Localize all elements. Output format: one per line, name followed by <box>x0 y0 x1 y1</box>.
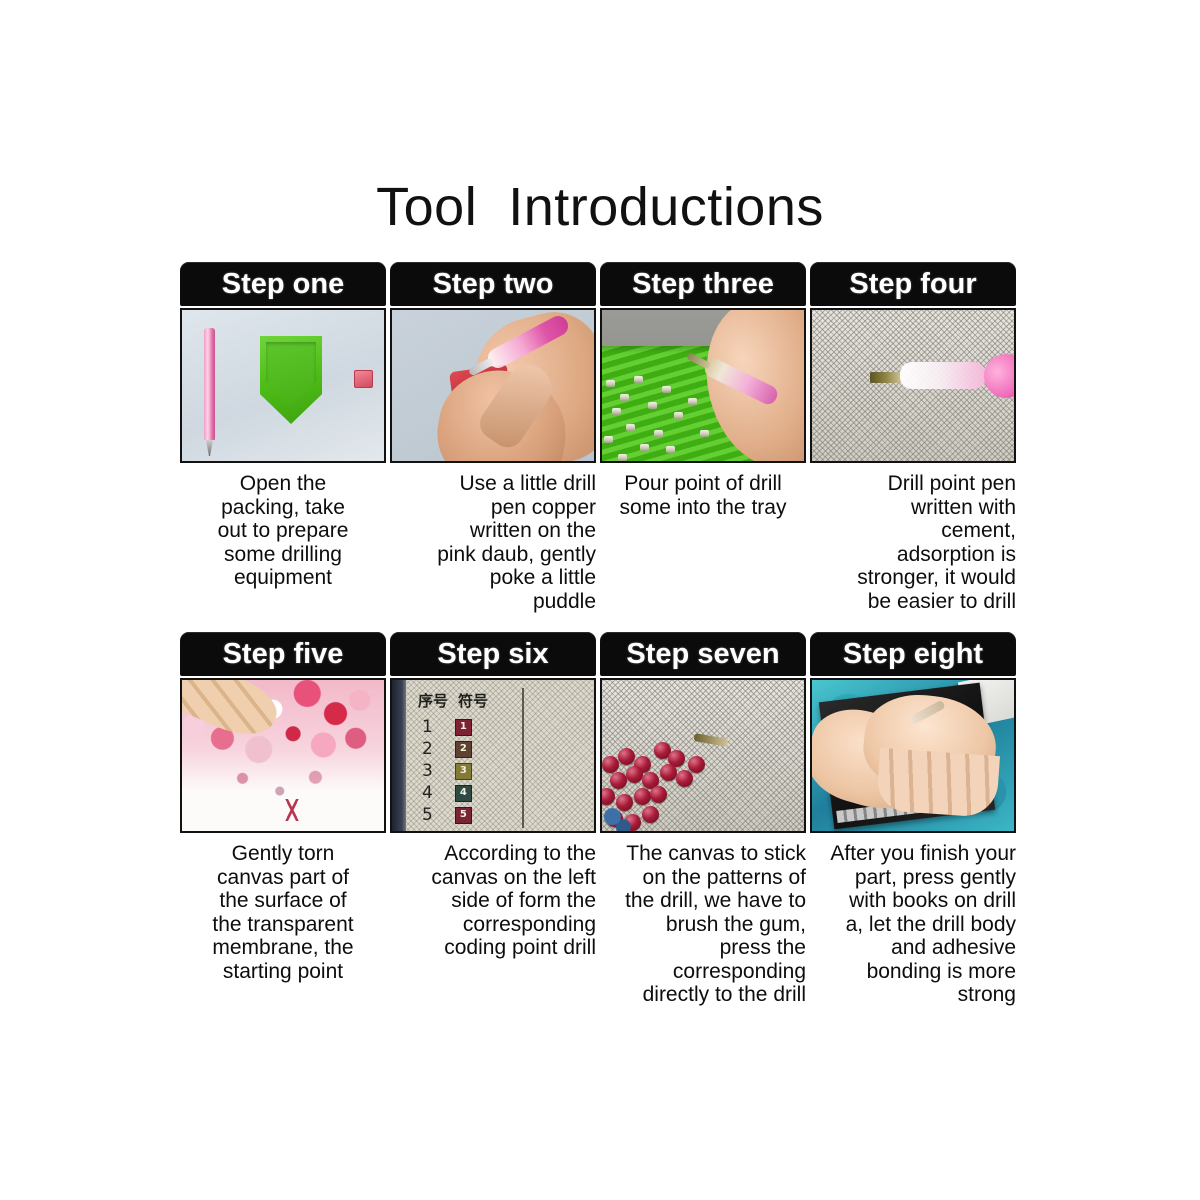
legend-symbol-swatch: 2 <box>455 741 472 758</box>
legend-row: 22 <box>414 738 522 760</box>
step-header-eight: Step eight <box>810 632 1016 676</box>
step-card-one: Step one Open the packing, take out to p… <box>180 262 386 613</box>
table-header-row: 序号 符号 <box>414 688 522 714</box>
step-header-label: Step five <box>223 640 344 669</box>
step-header-one: Step one <box>180 262 386 306</box>
step-header-label: Step two <box>433 270 554 299</box>
column-header-symbol: 符号 <box>458 690 488 711</box>
step-image-two <box>390 308 596 463</box>
step-image-eight <box>810 678 1016 833</box>
legend-index: 4 <box>422 785 433 802</box>
step-header-label: Step eight <box>843 640 983 669</box>
step-caption-five: Gently torn canvas part of the surface o… <box>180 842 386 983</box>
step-caption-four: Drill point pen written with cement, ads… <box>810 472 1016 613</box>
step-image-five <box>180 678 386 833</box>
fingers-icon <box>876 748 1000 818</box>
step-header-label: Step seven <box>626 640 779 669</box>
step-card-two: Step two Use a little drill pen copper w… <box>390 262 596 613</box>
step-header-six: Step six <box>390 632 596 676</box>
legend-row: 55 <box>414 804 522 826</box>
step-caption-eight: After you finish your part, press gently… <box>810 842 1016 1007</box>
step-card-six: Step six 序号 符号 1122334455 According to t… <box>390 632 596 1007</box>
step-card-three: Step three <box>600 262 806 613</box>
step-caption-six: According to the canvas on the left side… <box>390 842 596 960</box>
step-card-seven: Step seven <box>600 632 806 1007</box>
step-image-three <box>600 308 806 463</box>
pink-drill-pen-icon <box>204 328 215 440</box>
step-header-label: Step four <box>849 270 976 299</box>
pen-tip-with-cement-icon <box>870 372 904 383</box>
step-caption-one: Open the packing, take out to prepare so… <box>180 472 386 590</box>
step-header-three: Step three <box>600 262 806 306</box>
step-header-label: Step one <box>222 270 344 299</box>
step-header-five: Step five <box>180 632 386 676</box>
step-header-two: Step two <box>390 262 596 306</box>
step-header-four: Step four <box>810 262 1016 306</box>
canvas-edge <box>392 680 406 831</box>
step-image-one <box>180 308 386 463</box>
legend-index: 3 <box>422 763 433 780</box>
legend-symbol-swatch: 1 <box>455 719 472 736</box>
step-header-label: Step three <box>632 270 774 299</box>
table-body: 1122334455 <box>414 716 522 826</box>
pink-clay-block-icon <box>354 370 373 388</box>
starting-point-mark-icon <box>279 799 305 821</box>
step-card-eight: Step eight After you finish your part, p… <box>810 632 1016 1007</box>
legend-row: 11 <box>414 716 522 738</box>
page-title: Tool Introductions <box>0 176 1200 238</box>
step-header-label: Step six <box>437 640 548 669</box>
legend-index: 1 <box>422 719 433 736</box>
pen-barrel-icon <box>900 362 986 389</box>
steps-row-bottom: Step five Gently torn canvas part of the… <box>180 632 1024 1007</box>
blue-pattern-corner <box>602 803 634 831</box>
step-card-five: Step five Gently torn canvas part of the… <box>180 632 386 1007</box>
legend-index: 2 <box>422 741 433 758</box>
legend-symbol-swatch: 3 <box>455 763 472 780</box>
tool-introductions-infographic: Tool Introductions Step one Open the pac… <box>0 0 1200 1200</box>
step-caption-seven: The canvas to stick on the patterns of t… <box>600 842 806 1007</box>
step-image-four <box>810 308 1016 463</box>
step-image-seven <box>600 678 806 833</box>
column-header-index: 序号 <box>418 690 448 711</box>
step-caption-two: Use a little drill pen copper written on… <box>390 472 596 613</box>
legend-symbol-swatch: 5 <box>455 807 472 824</box>
legend-row: 44 <box>414 782 522 804</box>
legend-index: 5 <box>422 807 433 824</box>
symbol-legend-table: 序号 符号 1122334455 <box>414 688 524 828</box>
step-header-seven: Step seven <box>600 632 806 676</box>
step-image-six: 序号 符号 1122334455 <box>390 678 596 833</box>
step-caption-three: Pour point of drill some into the tray <box>600 472 806 519</box>
step-card-four: Step four Drill point pen written with c… <box>810 262 1016 613</box>
steps-row-top: Step one Open the packing, take out to p… <box>180 262 1024 613</box>
legend-symbol-swatch: 4 <box>455 785 472 802</box>
legend-row: 33 <box>414 760 522 782</box>
